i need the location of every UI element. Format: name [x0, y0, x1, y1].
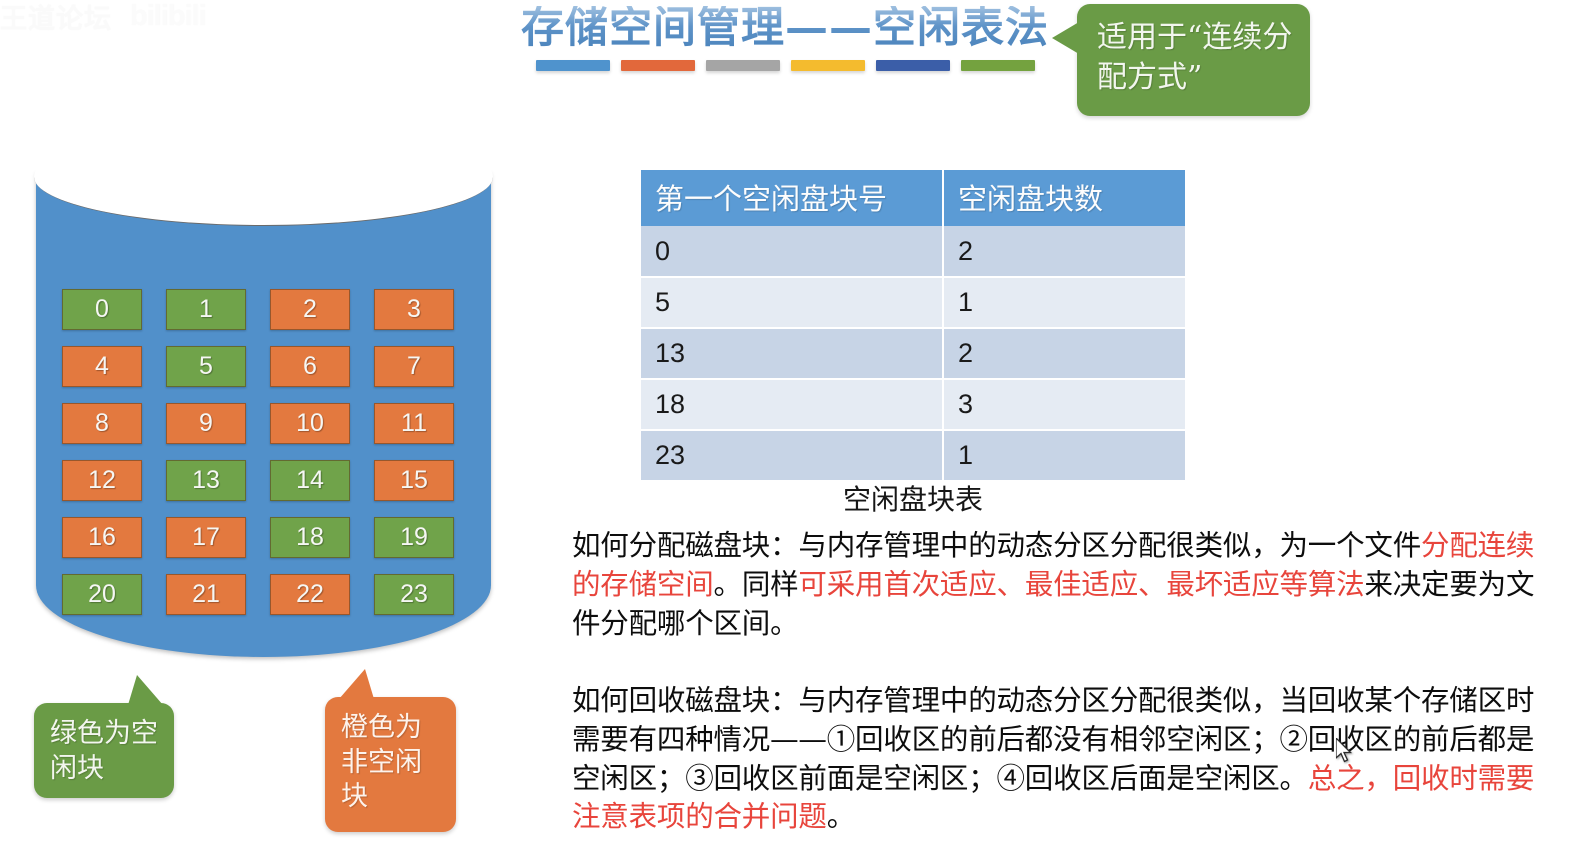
disk-block: 14	[270, 460, 350, 501]
recycle-seg-3: 。	[827, 800, 855, 833]
watermark-site-label: 王道论坛	[0, 0, 112, 36]
paragraph-allocation: 如何分配磁盘块：与内存管理中的动态分区分配很类似，为一个文件分配连续的存储空间。…	[572, 527, 1540, 643]
disk-block: 8	[62, 403, 142, 444]
disk-block: 10	[270, 403, 350, 444]
cell-first-block: 23	[641, 430, 943, 481]
table-caption: 空闲盘块表	[641, 478, 1185, 518]
disk-block: 11	[374, 403, 454, 444]
callout-tail-icon	[1052, 22, 1079, 54]
disk-block: 17	[166, 517, 246, 558]
cell-block-count: 2	[943, 328, 1185, 379]
disk-cylinder-diagram: 01234567891011121314151617181920212223	[36, 172, 491, 657]
watermark: 王道论坛 bilibili	[0, 0, 280, 36]
cell-first-block: 13	[641, 328, 943, 379]
callout-applicable-text: 适用于“连续分配方式”	[1077, 4, 1310, 97]
disk-block: 1	[166, 289, 246, 330]
alloc-seg-4-highlight: 可采用首次适应、最佳适应、最坏适应等算法	[798, 568, 1364, 601]
bilibili-logo-icon: bilibili	[130, 0, 206, 33]
table-header-row: 第一个空闲盘块号 空闲盘块数	[641, 170, 1185, 226]
legend-used-tail-icon	[339, 669, 374, 699]
disk-block: 12	[62, 460, 142, 501]
title-decoration-bars	[505, 60, 1065, 71]
disk-block: 13	[166, 460, 246, 501]
alloc-seg-3: 。同样	[714, 568, 799, 601]
disk-block: 20	[62, 574, 142, 615]
alloc-seg-1: 如何分配磁盘块：与内存管理中的动态分区分配很类似，为一个文件	[572, 529, 1421, 562]
page-title: 存储空间管理——空闲表法	[505, 6, 1065, 51]
disk-block: 23	[374, 574, 454, 615]
table-row: 51	[641, 277, 1185, 328]
table-header-first-block: 第一个空闲盘块号	[641, 170, 943, 226]
disk-block: 5	[166, 346, 246, 387]
disk-block: 2	[270, 289, 350, 330]
free-block-table: 第一个空闲盘块号 空闲盘块数 0251132183231	[641, 170, 1185, 482]
disk-block: 4	[62, 346, 142, 387]
title-bar-5	[876, 60, 950, 71]
legend-free-label: 绿色为空闲块	[50, 718, 158, 784]
disk-block: 22	[270, 574, 350, 615]
disk-block: 19	[374, 517, 454, 558]
callout-applicable-to: 适用于“连续分配方式”	[1077, 4, 1310, 116]
disk-block: 21	[166, 574, 246, 615]
paragraph-recycling: 如何回收磁盘块：与内存管理中的动态分区分配很类似，当回收某个存储区时需要有四种情…	[572, 682, 1540, 837]
disk-block: 3	[374, 289, 454, 330]
legend-used-label: 橙色为非空闲块	[341, 712, 422, 812]
table-row: 231	[641, 430, 1185, 481]
disk-block: 16	[62, 517, 142, 558]
title-bar-6	[961, 60, 1035, 71]
legend-free-block: 绿色为空闲块	[34, 703, 174, 798]
disk-block: 15	[374, 460, 454, 501]
disk-block: 6	[270, 346, 350, 387]
disk-block-grid: 01234567891011121314151617181920212223	[62, 289, 466, 615]
title-bar-1	[536, 60, 610, 71]
title-bar-2	[621, 60, 695, 71]
disk-top-ellipse	[34, 128, 493, 226]
title-bar-3	[706, 60, 780, 71]
table-row: 183	[641, 379, 1185, 430]
title-bar-4	[791, 60, 865, 71]
table-row: 02	[641, 226, 1185, 277]
legend-free-tail-icon	[128, 675, 163, 705]
disk-block: 9	[166, 403, 246, 444]
table-header-block-count: 空闲盘块数	[943, 170, 1185, 226]
cell-first-block: 0	[641, 226, 943, 277]
cell-first-block: 5	[641, 277, 943, 328]
cell-block-count: 3	[943, 379, 1185, 430]
cell-first-block: 18	[641, 379, 943, 430]
disk-block: 18	[270, 517, 350, 558]
legend-used-block: 橙色为非空闲块	[325, 697, 456, 832]
slide-canvas: 王道论坛 bilibili 存储空间管理——空闲表法 适用于“连续分配方式” 0…	[0, 0, 1570, 849]
slide-title-block: 存储空间管理——空闲表法	[505, 6, 1065, 71]
cell-block-count: 2	[943, 226, 1185, 277]
table-row: 132	[641, 328, 1185, 379]
cell-block-count: 1	[943, 277, 1185, 328]
disk-block: 0	[62, 289, 142, 330]
disk-block: 7	[374, 346, 454, 387]
cell-block-count: 1	[943, 430, 1185, 481]
